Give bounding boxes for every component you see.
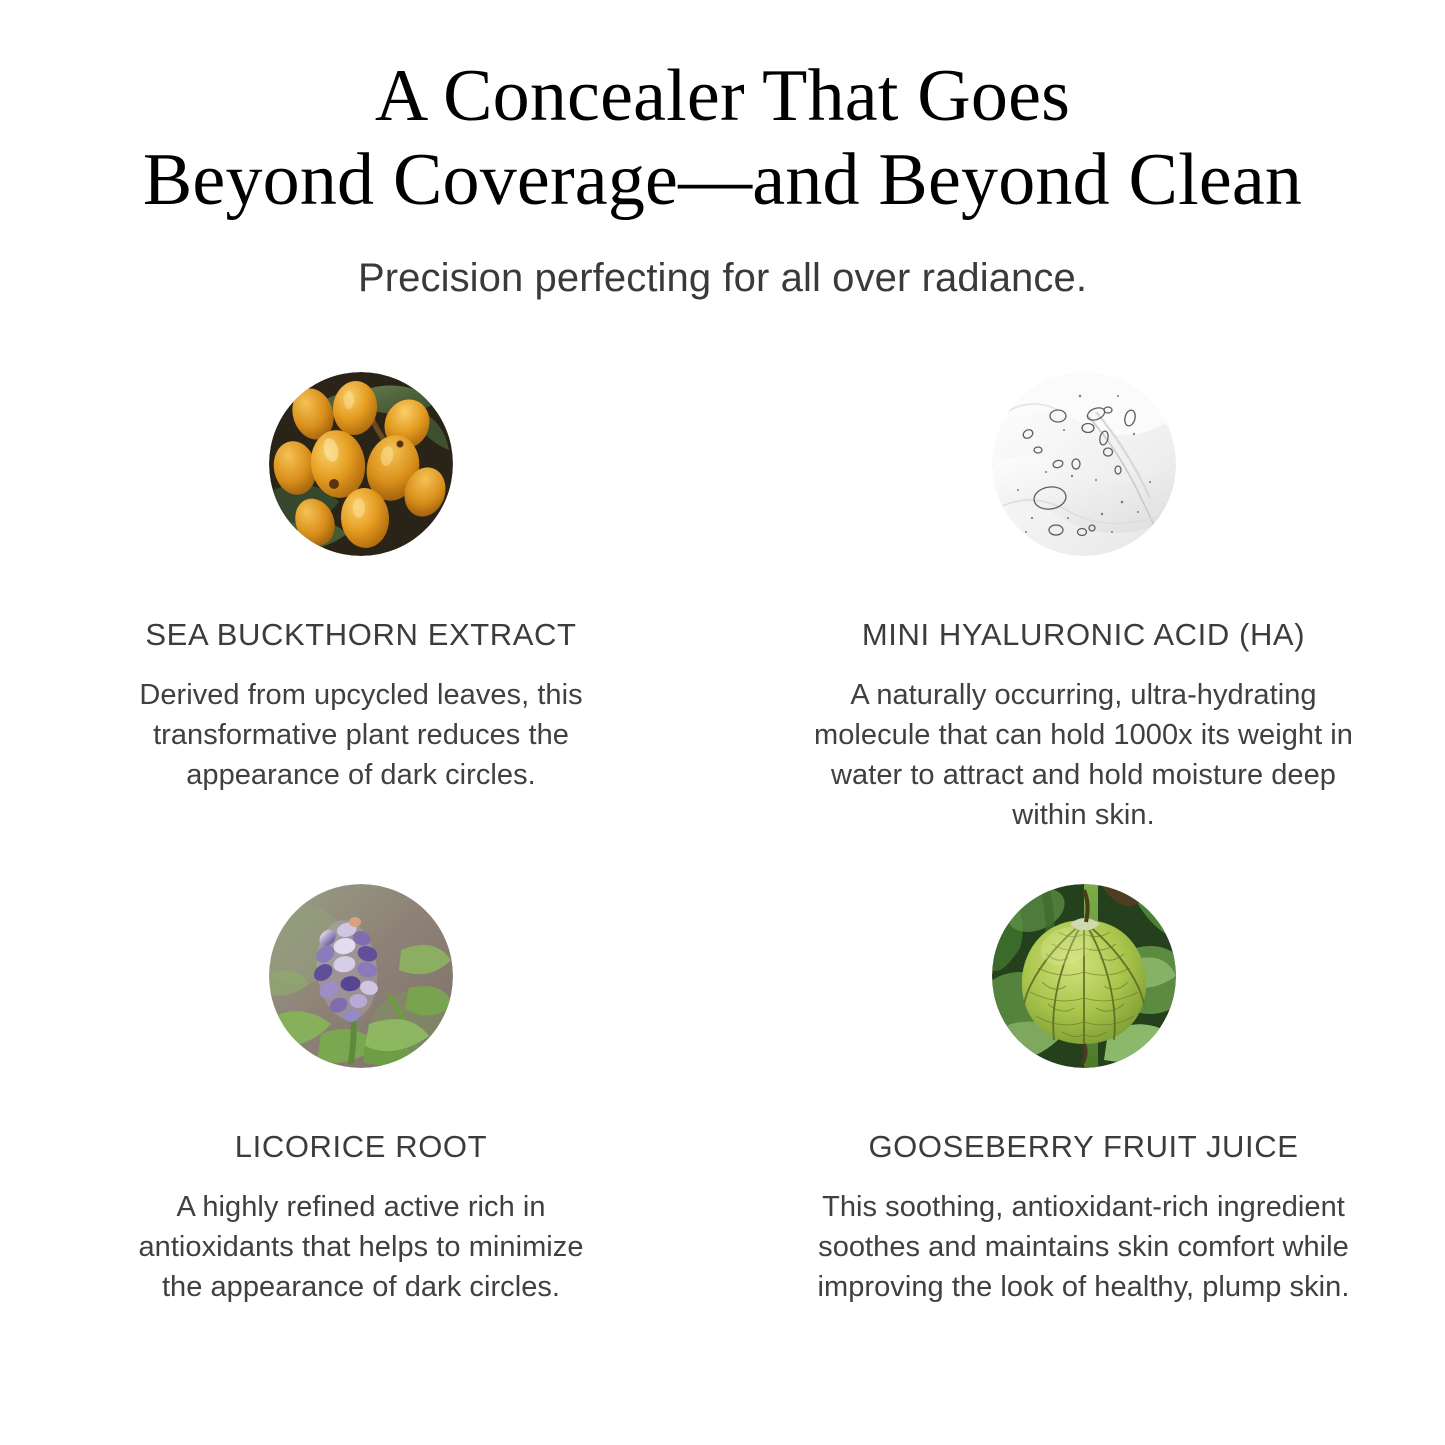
sea-buckthorn-berries-icon bbox=[269, 372, 453, 556]
page-subtitle: Precision perfecting for all over radian… bbox=[0, 222, 1445, 302]
ingredient-image-gooseberry bbox=[992, 884, 1176, 1068]
ingredient-description: This soothing, antioxidant-rich ingredie… bbox=[811, 1187, 1356, 1307]
licorice-root-flower-icon bbox=[269, 884, 453, 1068]
ingredient-title: LICORICE ROOT bbox=[235, 1129, 487, 1165]
ingredient-card-sea-buckthorn: SEA BUCKTHORN EXTRACT Derived from upcyc… bbox=[0, 356, 722, 868]
gooseberry-husk-icon bbox=[992, 884, 1176, 1068]
hyaluronic-acid-gel-icon bbox=[992, 372, 1176, 556]
ingredient-description: A naturally occurring, ultra-hydrating m… bbox=[811, 675, 1356, 835]
ingredient-card-licorice-root: LICORICE ROOT A highly refined active ri… bbox=[0, 868, 722, 1380]
page-title: A Concealer That Goes Beyond Coverage—an… bbox=[0, 54, 1445, 222]
ingredient-card-gooseberry: GOOSEBERRY FRUIT JUICE This soothing, an… bbox=[722, 868, 1445, 1380]
header: A Concealer That Goes Beyond Coverage—an… bbox=[0, 54, 1445, 302]
ingredient-description: A highly refined active rich in antioxid… bbox=[126, 1187, 596, 1307]
ingredient-description: Derived from upcycled leaves, this trans… bbox=[126, 675, 596, 795]
ingredient-grid: SEA BUCKTHORN EXTRACT Derived from upcyc… bbox=[0, 356, 1445, 1380]
ingredient-title: GOOSEBERRY FRUIT JUICE bbox=[868, 1129, 1298, 1165]
ingredient-title: SEA BUCKTHORN EXTRACT bbox=[145, 617, 576, 653]
ingredient-title: MINI HYALURONIC ACID (HA) bbox=[862, 617, 1305, 653]
ingredient-image-sea-buckthorn bbox=[269, 372, 453, 556]
infographic-page: A Concealer That Goes Beyond Coverage—an… bbox=[0, 0, 1445, 1445]
ingredient-card-hyaluronic-acid: MINI HYALURONIC ACID (HA) A naturally oc… bbox=[722, 356, 1445, 868]
ingredient-image-hyaluronic-acid bbox=[992, 372, 1176, 556]
ingredient-image-licorice-root bbox=[269, 884, 453, 1068]
